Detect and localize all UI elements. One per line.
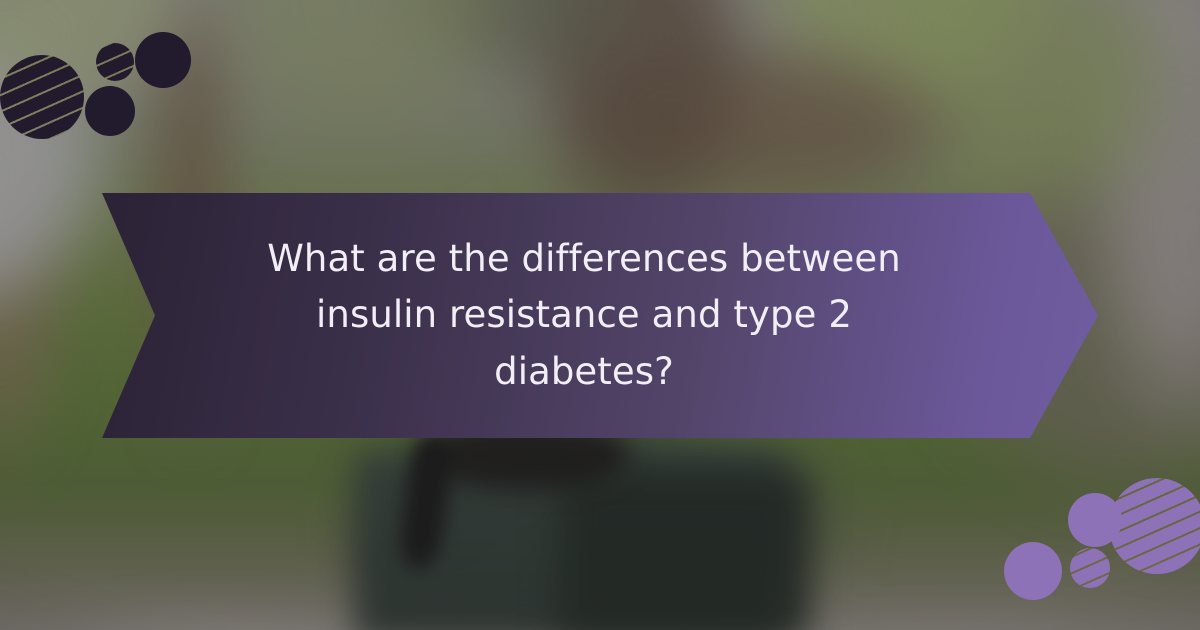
question-text: What are the differences between insulin… [224, 231, 944, 400]
circle-small-plain [85, 86, 135, 136]
circle-small-striped [1070, 548, 1110, 588]
share-card: What are the differences between insulin… [0, 0, 1200, 630]
circle-medium-plain [135, 32, 191, 88]
circle-large-striped [1109, 478, 1200, 574]
question-banner: What are the differences between insulin… [102, 193, 1098, 438]
circle-small-plain [1004, 542, 1062, 600]
circle-small-striped [96, 43, 134, 81]
circle-large-striped [0, 55, 84, 139]
circle-medium-plain [1068, 493, 1122, 547]
